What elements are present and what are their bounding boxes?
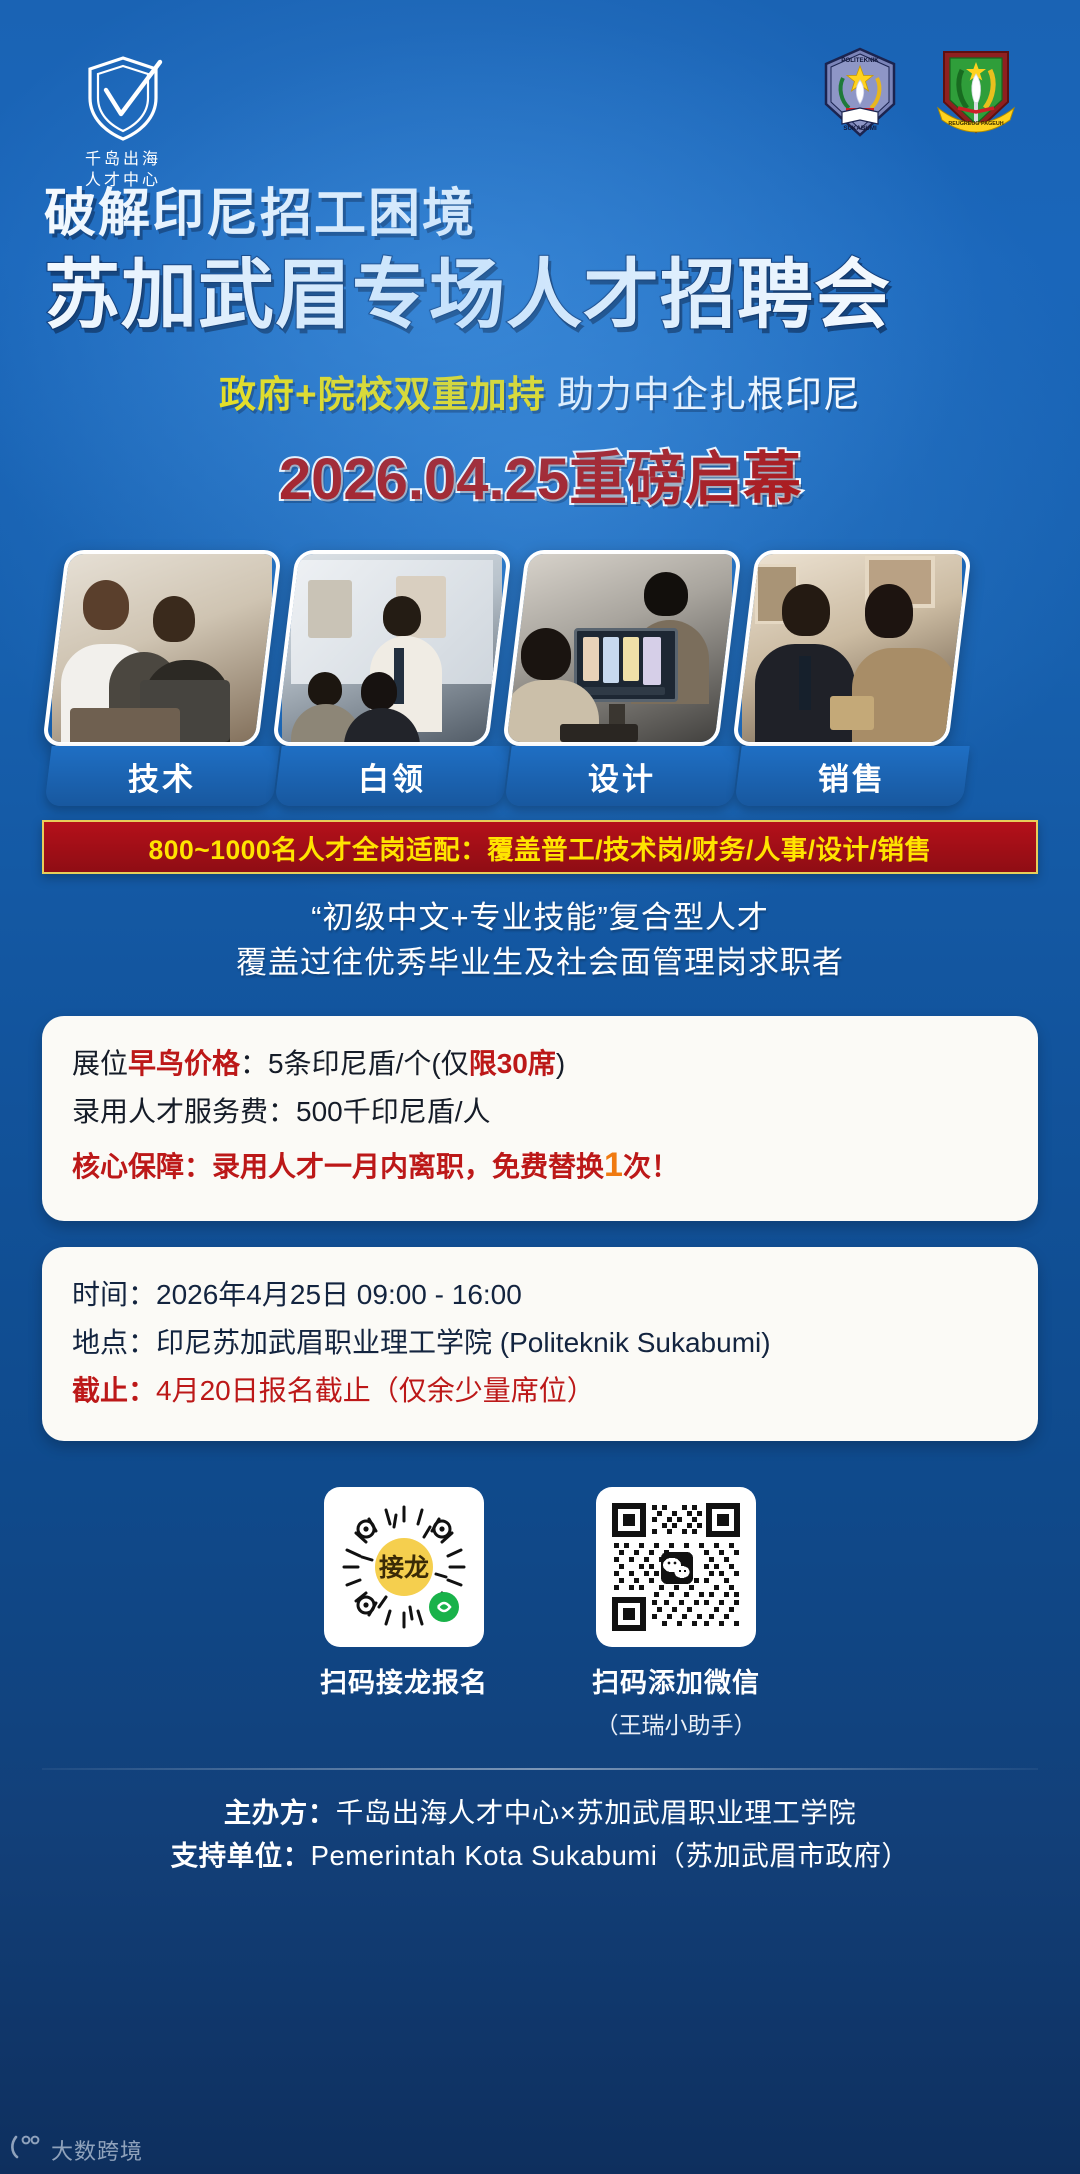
- category-label-1: 技术: [44, 746, 279, 806]
- service-fee-text: 录用人才服务费：500千印尼盾/人: [72, 1096, 491, 1127]
- support-label: 支持单位：: [171, 1840, 311, 1871]
- watermark-text: 大数跨境: [51, 2134, 143, 2166]
- earlybird-label: 早鸟价格: [128, 1040, 240, 1088]
- pricing-line-2: 录用人才服务费：500千印尼盾/人: [72, 1088, 1008, 1136]
- support-value: Pemerintah Kota Sukabumi（苏加武眉市政府）: [311, 1840, 910, 1871]
- guarantee-suffix: 次！: [623, 1143, 679, 1191]
- category-card-4: 销售: [744, 550, 960, 746]
- description-line-2: 覆盖过往优秀毕业生及社会面管理岗求职者: [0, 941, 1080, 986]
- footer-divider: [42, 1768, 1038, 1770]
- jielong-miniprogram-qr[interactable]: 接龙: [324, 1487, 484, 1647]
- category-cards: 技术: [0, 550, 1080, 790]
- booth-label: 展位: [72, 1040, 128, 1088]
- pricing-card: 展位早鸟价格：5条印尼盾/个(仅限30席) 录用人才服务费：500千印尼盾/人 …: [42, 1016, 1038, 1221]
- organization-logos: POLITEKNIK SUKABUMI REUGREUG PAGEUH: [816, 46, 1020, 138]
- category-label-4: 销售: [734, 746, 969, 806]
- poster-footer: 主办方：千岛出海人才中心×苏加武眉职业理工学院 支持单位：Pemerintah …: [0, 1792, 1080, 1877]
- category-label-2: 白领: [274, 746, 509, 806]
- deadline-label: 截止：: [72, 1367, 156, 1415]
- svg-text:POLITEKNIK: POLITEKNIK: [841, 57, 879, 64]
- organizer-value: 千岛出海人才中心×苏加武眉职业理工学院: [336, 1797, 857, 1828]
- coverage-banner-text: 800~1000名人才全岗适配：覆盖普工/技术岗/财务/人事/设计/销售: [149, 828, 932, 867]
- svg-text:SUKABUMI: SUKABUMI: [843, 125, 877, 132]
- place-value: 印尼苏加武眉职业理工学院 (Politeknik Sukabumi): [156, 1319, 771, 1367]
- qr-caption-wechat: 扫码添加微信: [576, 1661, 776, 1700]
- wechat-qr[interactable]: [596, 1487, 756, 1647]
- politeknik-sukabumi-emblem: POLITEKNIK SUKABUMI: [816, 46, 904, 138]
- booth-price: ：5条印尼盾/个(仅: [240, 1040, 469, 1088]
- qr-caption-jielong: 扫码接龙报名: [304, 1661, 504, 1700]
- qr-section: 接龙 扫码接龙报名: [0, 1487, 1080, 1740]
- kicker-headline: 破解印尼招工困境: [44, 186, 1080, 243]
- event-details-card: 时间：2026年4月25日 09:00 - 16:00 地点：印尼苏加武眉职业理…: [42, 1247, 1038, 1441]
- qr-center-label: 接龙: [379, 1554, 429, 1582]
- organizer-row: 主办方：千岛出海人才中心×苏加武眉职业理工学院: [0, 1792, 1080, 1835]
- brand-logo: 千岛出海 人才中心: [58, 52, 188, 191]
- subtitle-line: 政府+院校双重加持 助力中企扎根印尼: [0, 364, 1080, 418]
- sales-handshake-photo: [732, 550, 972, 746]
- description-line-1: “初级中文+专业技能”复合型人才: [0, 896, 1080, 941]
- qr-subcaption-wechat: （王瑞小助手）: [576, 1706, 776, 1740]
- support-row: 支持单位：Pemerintah Kota Sukabumi（苏加武眉市政府）: [0, 1835, 1080, 1878]
- time-value: 2026年4月25日 09:00 - 16:00: [156, 1271, 522, 1319]
- event-place-row: 地点：印尼苏加武眉职业理工学院 (Politeknik Sukabumi): [72, 1319, 1008, 1367]
- description-block: “初级中文+专业技能”复合型人才 覆盖过往优秀毕业生及社会面管理岗求职者: [0, 896, 1080, 986]
- guarantee-text: 核心保障：录用人才一月内离职，免费替换: [72, 1143, 604, 1191]
- main-title: 苏加武眉专场人才招聘会: [44, 253, 1080, 338]
- booth-paren-close: ): [556, 1040, 565, 1088]
- date-headline: 2026.04.25重磅启幕: [0, 432, 1080, 516]
- qr-block-jielong: 接龙 扫码接龙报名: [304, 1487, 504, 1740]
- title-block: 破解印尼招工困境 苏加武眉专场人才招聘会: [0, 186, 1080, 338]
- category-card-3: 设计: [514, 550, 730, 746]
- pricing-line-1: 展位早鸟价格：5条印尼盾/个(仅限30席): [72, 1040, 1008, 1088]
- dashu-kuajing-logo-icon: [10, 2134, 44, 2166]
- recruitment-poster: 千岛出海 人才中心 POLITEKNIK SUKABUMI: [0, 0, 1080, 2174]
- deadline-value: 4月20日报名截止（仅余少量席位）: [156, 1367, 595, 1415]
- shield-check-icon: [58, 52, 188, 144]
- event-deadline-row: 截止：4月20日报名截止（仅余少量席位）: [72, 1367, 1008, 1415]
- kota-sukabumi-emblem: REUGREUG PAGEUH: [932, 46, 1020, 138]
- svg-text:REUGREUG PAGEUH: REUGREUG PAGEUH: [948, 121, 1003, 127]
- brand-name-line2: 人才中心: [58, 170, 188, 191]
- organizer-label: 主办方：: [224, 1797, 336, 1828]
- subtitle-rest: 助力中企扎根印尼: [557, 374, 861, 415]
- pricing-line-3: 核心保障：录用人才一月内离职，免费替换1次！: [72, 1136, 1008, 1194]
- guarantee-count: 1: [604, 1136, 623, 1194]
- poster-header: 千岛出海 人才中心 POLITEKNIK SUKABUMI: [0, 0, 1080, 180]
- event-time-row: 时间：2026年4月25日 09:00 - 16:00: [72, 1271, 1008, 1319]
- booth-limit: 限30席: [469, 1040, 556, 1088]
- technician-workshop-photo: [42, 550, 282, 746]
- category-label-3: 设计: [504, 746, 739, 806]
- qr-block-wechat: 扫码添加微信 （王瑞小助手）: [576, 1487, 776, 1740]
- category-card-1: 技术: [54, 550, 270, 746]
- brand-name-line1: 千岛出海: [58, 149, 188, 170]
- office-meeting-photo: [272, 550, 512, 746]
- place-label: 地点：: [72, 1319, 156, 1367]
- watermark: 大数跨境: [10, 2134, 143, 2166]
- designer-computer-photo: [502, 550, 742, 746]
- coverage-banner: 800~1000名人才全岗适配：覆盖普工/技术岗/财务/人事/设计/销售: [42, 820, 1038, 874]
- subtitle-highlight: 政府+院校双重加持: [219, 374, 546, 415]
- category-card-2: 白领: [284, 550, 500, 746]
- time-label: 时间：: [72, 1271, 156, 1319]
